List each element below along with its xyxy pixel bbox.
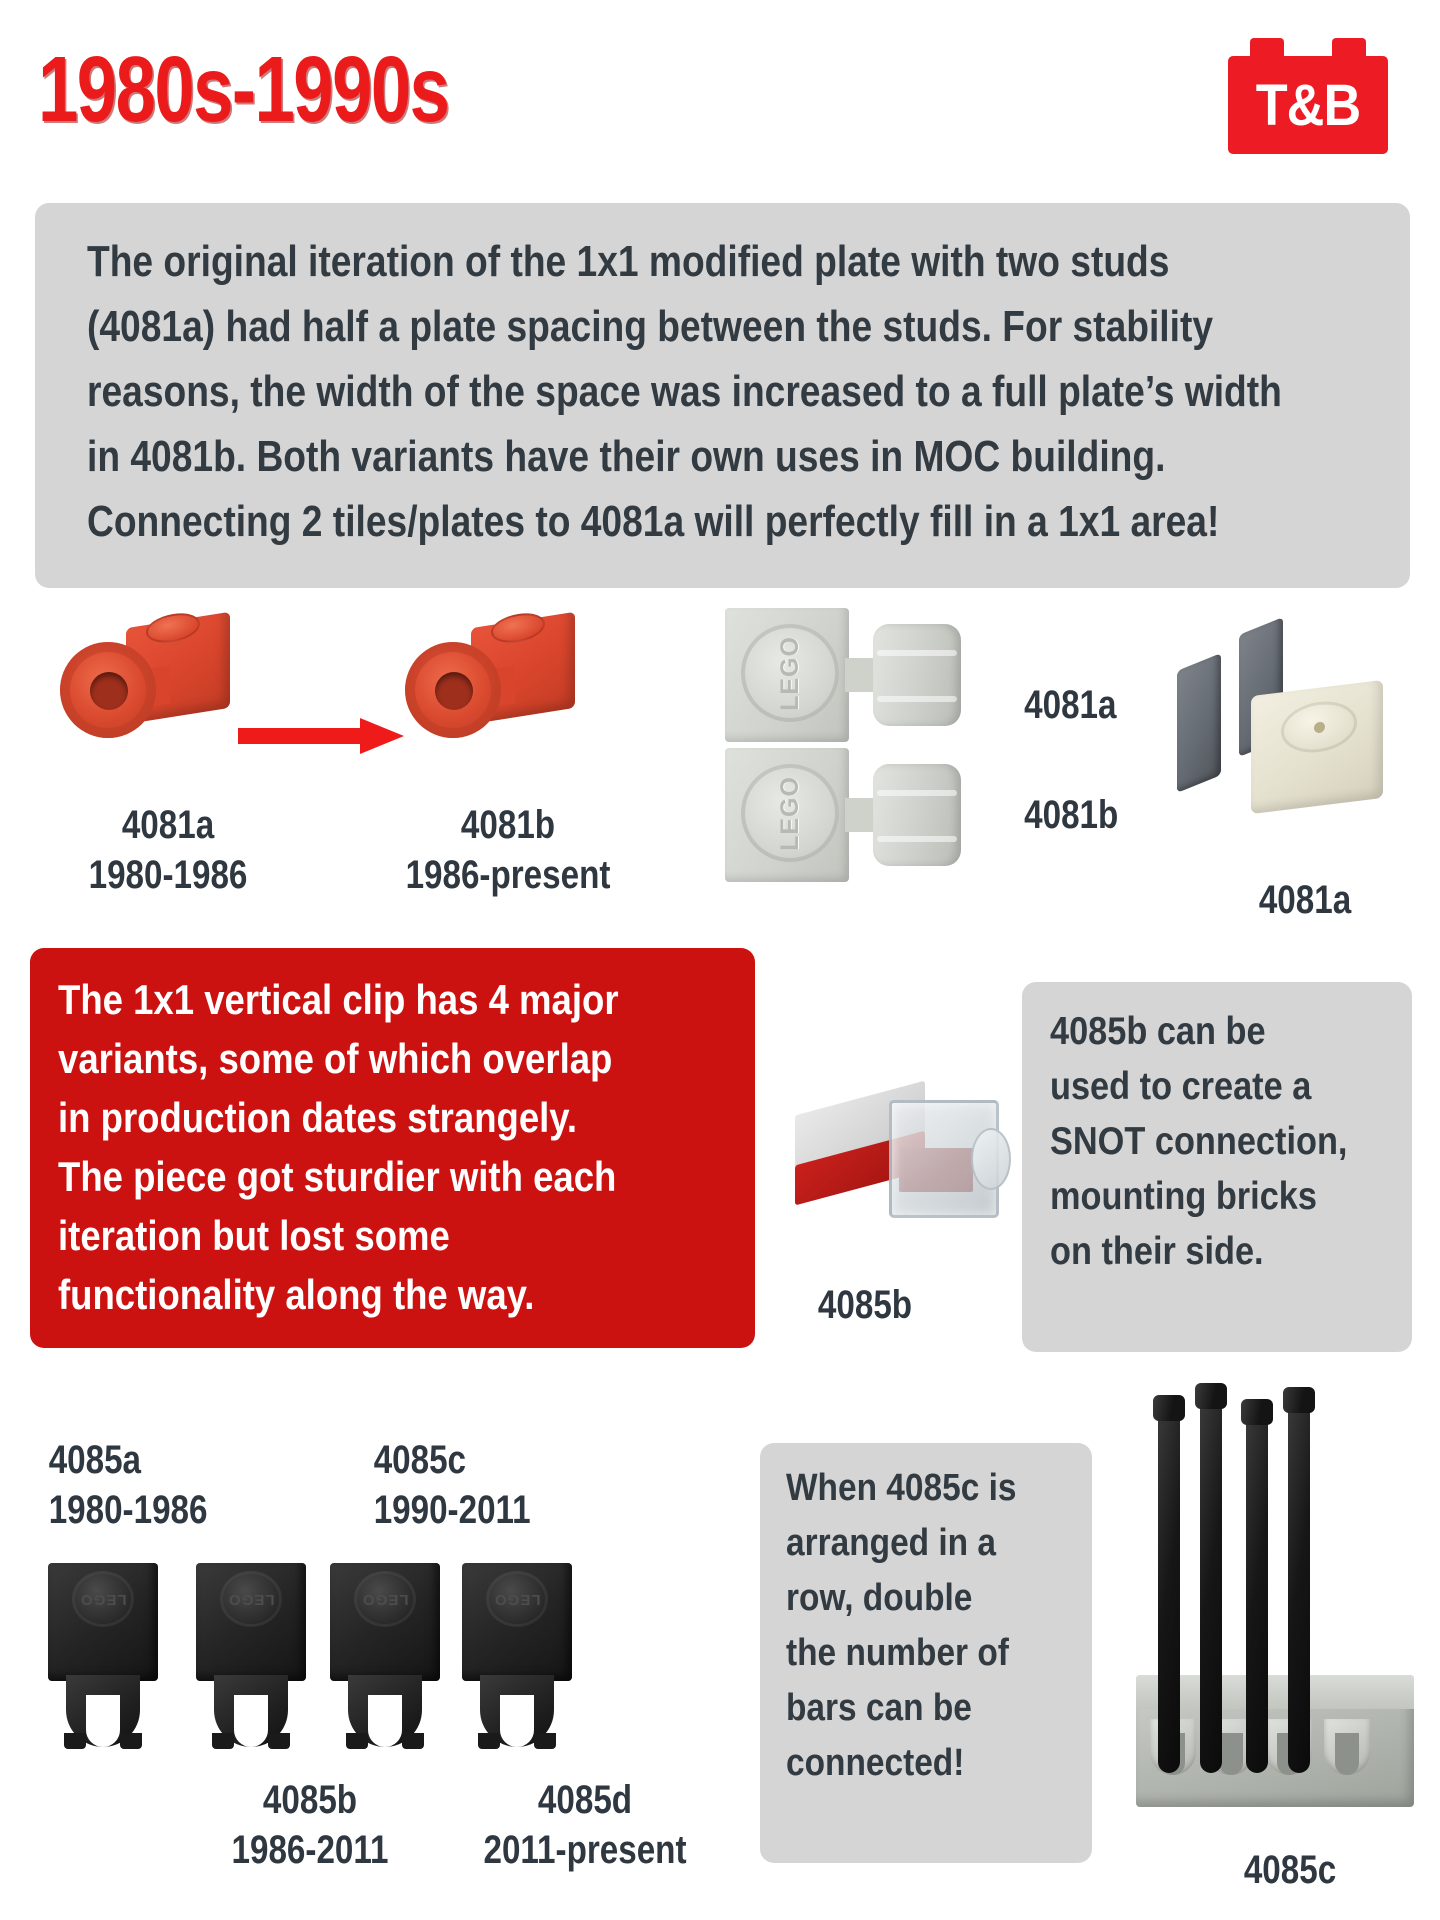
- bars-callout-line: arranged in a: [786, 1516, 1016, 1571]
- arrow-head: [360, 718, 404, 754]
- clip-slot: [1324, 1719, 1370, 1775]
- part-photo-4081a-red: [60, 612, 230, 742]
- intro-line: Connecting 2 tiles/plates to 4081a will …: [87, 489, 1439, 554]
- brand-logo-brick-icon: T&B: [1228, 38, 1388, 154]
- part-photo-4085c-bars-row: [1120, 1385, 1430, 1845]
- logo-studs: [1228, 38, 1388, 58]
- clip-face: [971, 1128, 1011, 1190]
- red-callout-line: The piece got sturdier with each: [58, 1147, 619, 1206]
- part-id: 4081a: [1222, 875, 1388, 925]
- header: 1980s-1990s T&B: [0, 0, 1440, 195]
- part-years: 1990-2011: [374, 1485, 557, 1535]
- clip-ring: [873, 624, 961, 726]
- part-id: 4085b: [219, 1775, 402, 1825]
- clip-ring: [405, 642, 501, 738]
- intro-text-panel: The original iteration of the 1x1 modifi…: [35, 203, 1410, 588]
- clip-prong-left: [64, 1733, 86, 1749]
- intro-line: The original iteration of the 1x1 modifi…: [87, 229, 1439, 294]
- plate-stud: LEGO: [220, 1571, 282, 1627]
- gray-part-4081a: LEGO: [725, 608, 965, 742]
- black-bar: [1158, 1403, 1180, 1773]
- part-photo-4085b-black: LEGO: [196, 1545, 314, 1755]
- stud-brand-text: LEGO: [228, 1591, 275, 1608]
- intro-line: reasons, the width of the space was incr…: [87, 359, 1439, 424]
- part-id: 4085b: [790, 1280, 939, 1330]
- red-callout-line: functionality along the way.: [58, 1265, 619, 1324]
- red-callout-line: in production dates strangely.: [58, 1088, 619, 1147]
- caption-4085d-black: 4085d 2011-present: [455, 1775, 715, 1875]
- dark-gray-tile: [1177, 653, 1221, 793]
- caption-white-4081a: 4081a: [1205, 875, 1405, 925]
- part-photo-4085c-black: LEGO: [330, 1545, 448, 1755]
- part-years: 1986-2011: [219, 1825, 402, 1875]
- part-photo-gray-pair: LEGO LEGO: [725, 608, 975, 888]
- red-callout-panel: The 1x1 vertical clip has 4 major varian…: [30, 948, 755, 1348]
- stud-brand-text: LEGO: [80, 1591, 127, 1608]
- part-id: 4085d: [477, 1775, 693, 1825]
- part-photo-4085a-black: LEGO: [48, 1545, 166, 1755]
- arrow-shaft: [238, 728, 366, 744]
- part-years: 1980-1986: [49, 1485, 232, 1535]
- part-id: 4081b: [1024, 790, 1182, 840]
- clip-gap: [86, 1695, 120, 1747]
- gray-part-4081b: LEGO: [725, 748, 965, 882]
- part-render-4085b: [795, 1070, 1045, 1260]
- bars-callout-line: the number of: [786, 1626, 1016, 1681]
- bars-callout-paragraph: When 4085c is arranged in a row, double …: [786, 1461, 1048, 1791]
- intro-paragraph: The original iteration of the 1x1 modifi…: [87, 229, 1440, 554]
- snot-callout-line: on their side.: [1050, 1224, 1347, 1279]
- transition-arrow-icon: [238, 718, 408, 752]
- clip-ring: [873, 764, 961, 866]
- bars-callout-line: bars can be: [786, 1681, 1016, 1736]
- part-id: 4081b: [400, 800, 616, 850]
- snot-callout-panel: 4085b can be used to create a SNOT conne…: [1022, 982, 1412, 1352]
- stud-brand-text: LEGO: [362, 1591, 409, 1608]
- part-id: 4085c: [1207, 1845, 1373, 1895]
- clip-gap: [234, 1695, 268, 1747]
- snot-callout-line: mounting bricks: [1050, 1169, 1347, 1224]
- black-bar-cap: [1195, 1383, 1227, 1409]
- clip-prong-right: [120, 1733, 142, 1749]
- red-callout-line: The 1x1 vertical clip has 4 major: [58, 970, 619, 1029]
- clip-ring: [60, 642, 156, 738]
- plate-stud: LEGO: [741, 764, 839, 862]
- bars-callout-line: connected!: [786, 1736, 1016, 1791]
- clip-prong-left: [212, 1733, 234, 1749]
- snot-callout-line: used to create a: [1050, 1059, 1347, 1114]
- intro-line: in 4081b. Both variants have their own u…: [87, 424, 1439, 489]
- logo-text: T&B: [1236, 56, 1380, 154]
- stud-brand-text: LEGO: [494, 1591, 541, 1608]
- snot-callout-line: 4085b can be: [1050, 1004, 1347, 1059]
- clip-prong-right: [268, 1733, 290, 1749]
- intro-line: (4081a) had half a plate spacing between…: [87, 294, 1439, 359]
- black-bar: [1200, 1391, 1222, 1773]
- part-years: 1986-present: [400, 850, 616, 900]
- part-years: 2011-present: [477, 1825, 693, 1875]
- part-id: 4081a: [1024, 680, 1182, 730]
- plate-stud: LEGO: [72, 1571, 134, 1627]
- part-photo-white-4081a: [1165, 622, 1415, 832]
- stud-brand-text: LEGO: [776, 776, 805, 851]
- bars-callout-panel: When 4085c is arranged in a row, double …: [760, 1443, 1092, 1863]
- caption-4081a-red: 4081a 1980-1986: [58, 800, 278, 900]
- part-id: 4085c: [374, 1435, 557, 1485]
- black-bar: [1288, 1395, 1310, 1773]
- snot-callout-line: SNOT connection,: [1050, 1114, 1347, 1169]
- black-bar-cap: [1241, 1399, 1273, 1425]
- part-years: 1980-1986: [77, 850, 260, 900]
- part-id: 4081a: [77, 800, 260, 850]
- part-photo-4081b-red: [405, 612, 575, 742]
- clip-prong-right: [402, 1733, 424, 1749]
- black-bar-cap: [1283, 1387, 1315, 1413]
- black-bar-cap: [1153, 1395, 1185, 1421]
- caption-4085a: 4085a 1980-1986: [30, 1435, 250, 1535]
- stud-brand-text: LEGO: [776, 636, 805, 711]
- page-title: 1980s-1990s: [38, 42, 448, 137]
- caption-4085b-render: 4085b: [775, 1280, 955, 1330]
- part-id: 4085a: [49, 1435, 232, 1485]
- snot-callout-paragraph: 4085b can be used to create a SNOT conne…: [1050, 1004, 1388, 1279]
- caption-4081b-red: 4081b 1986-present: [378, 800, 638, 900]
- caption-4085c-bars: 4085c: [1190, 1845, 1390, 1895]
- red-callout-paragraph: The 1x1 vertical clip has 4 major varian…: [58, 970, 702, 1324]
- infographic-page: 1980s-1990s T&B The original iteration o…: [0, 0, 1440, 1920]
- light-gray-clip-row: [1136, 1675, 1414, 1807]
- bars-callout-line: row, double: [786, 1571, 1016, 1626]
- plate-stud: LEGO: [486, 1571, 548, 1627]
- black-bar: [1246, 1407, 1268, 1773]
- part-photo-4085d-black: LEGO: [462, 1545, 580, 1755]
- plate-stud: LEGO: [741, 624, 839, 722]
- red-callout-line: variants, some of which overlap: [58, 1029, 619, 1088]
- bars-callout-line: When 4085c is: [786, 1461, 1016, 1516]
- caption-4085b-black: 4085b 1986-2011: [200, 1775, 420, 1875]
- clip-prong-left: [478, 1733, 500, 1749]
- clip-prong-left: [346, 1733, 368, 1749]
- caption-4085c: 4085c 1990-2011: [355, 1435, 575, 1535]
- plate-stud: LEGO: [354, 1571, 416, 1627]
- red-callout-line: iteration but lost some: [58, 1206, 619, 1265]
- clip-prong-right: [534, 1733, 556, 1749]
- clip-gap: [368, 1695, 402, 1747]
- clip-gap: [500, 1695, 534, 1747]
